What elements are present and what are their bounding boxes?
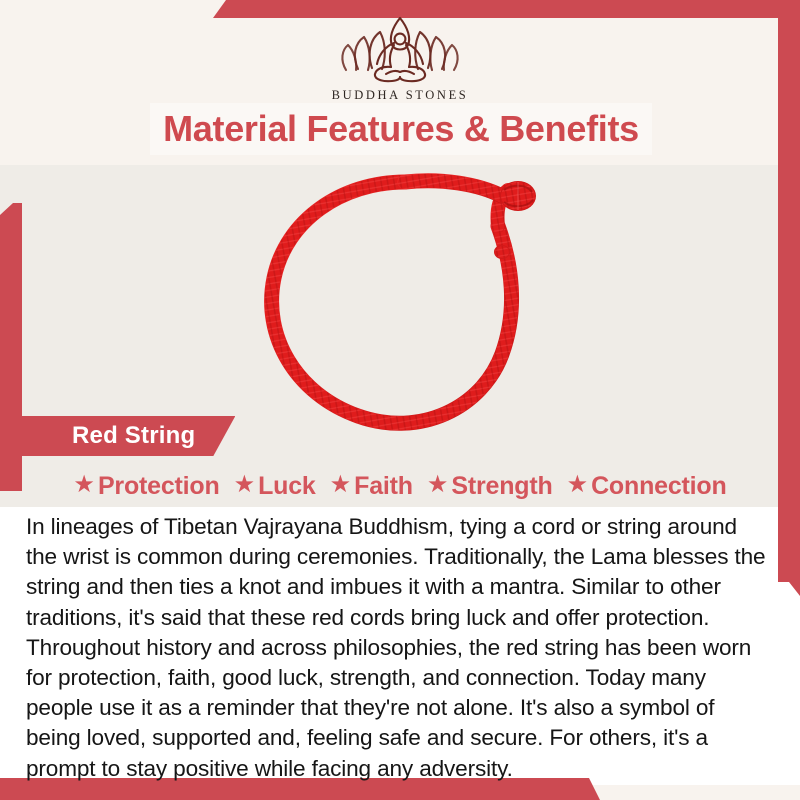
brand-logo: BUDDHA STONES (0, 12, 800, 103)
title-banner: Material Features & Benefits (150, 103, 652, 155)
star-icon: ★ (73, 473, 95, 497)
benefit-item-faith: ★ Faith (325, 472, 418, 501)
benefit-item-luck: ★ Luck (229, 472, 321, 501)
product-name: Red String (72, 422, 195, 450)
page-title: Material Features & Benefits (163, 108, 639, 150)
product-name-ribbon: Red String (22, 416, 235, 456)
benefit-item-protection: ★ Protection (68, 472, 224, 501)
star-icon: ★ (330, 473, 352, 497)
benefit-item-strength: ★ Strength (422, 472, 558, 501)
lotus-meditation-figure-icon (334, 12, 466, 84)
benefit-label: Luck (258, 472, 316, 501)
description-paragraph: In lineages of Tibetan Vajrayana Buddhis… (26, 512, 774, 784)
benefits-list: ★ Protection ★ Luck ★ Faith ★ Strength ★… (0, 466, 800, 506)
benefit-label: Protection (98, 472, 220, 501)
benefit-label: Faith (354, 472, 413, 501)
benefit-label: Connection (591, 472, 727, 501)
star-icon: ★ (427, 473, 449, 497)
benefit-label: Strength (451, 472, 552, 501)
red-string-braided-bracelet-icon (230, 168, 570, 443)
product-image-area (0, 165, 800, 445)
benefit-item-connection: ★ Connection (562, 472, 732, 501)
star-icon: ★ (567, 473, 589, 497)
product-info-poster: BUDDHA STONES Material Features & Benefi… (0, 0, 800, 800)
star-icon: ★ (234, 473, 256, 497)
brand-name: BUDDHA STONES (332, 88, 469, 103)
